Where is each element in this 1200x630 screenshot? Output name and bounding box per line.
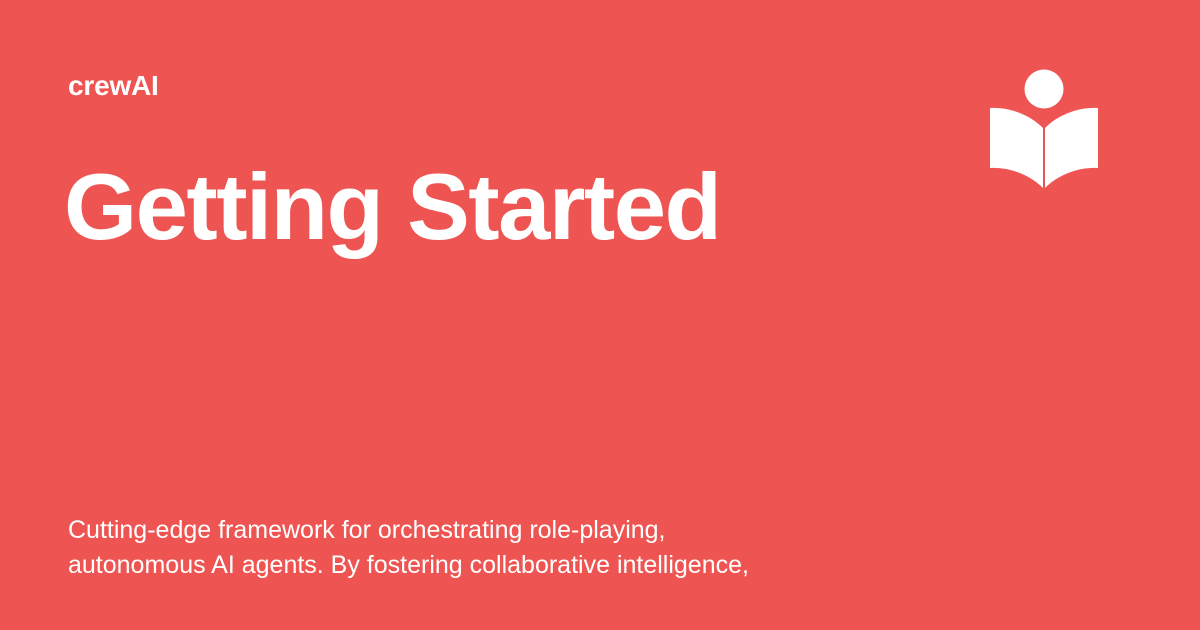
brand-name: crewAI — [68, 70, 159, 102]
open-book-reader-icon — [988, 68, 1100, 192]
page-description: Cutting-edge framework for orchestrating… — [68, 513, 888, 583]
open-graph-card: crewAI Getting Started Cutting-edge fram… — [0, 0, 1200, 630]
description-line-1: Cutting-edge framework for orchestrating… — [68, 513, 888, 548]
page-title: Getting Started — [64, 158, 720, 257]
description-line-2: autonomous AI agents. By fostering colla… — [68, 548, 888, 583]
